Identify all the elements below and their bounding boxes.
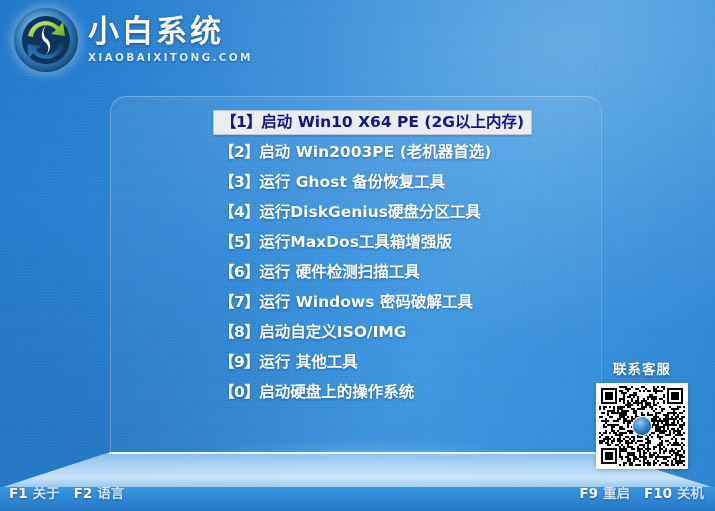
- brand-name-cn: 小白系统: [88, 16, 253, 49]
- boot-menu-item-index: 【4】: [219, 203, 259, 221]
- circular-recycle-arrows-icon: [14, 8, 78, 72]
- boot-menu-item-1[interactable]: 【1】启动 Win10 X64 PE (2G以上内存): [213, 110, 532, 135]
- boot-menu-item-index: 【7】: [219, 293, 259, 311]
- footer-key-f10-label: 关机: [677, 486, 704, 502]
- footer-key-f1-label: 关于: [33, 486, 60, 502]
- boot-menu-item-4[interactable]: 【4】运行DiskGenius硬盘分区工具: [213, 200, 487, 225]
- boot-menu-item-label: 运行 Ghost 备份恢复工具: [259, 173, 445, 191]
- boot-menu-item-6[interactable]: 【6】运行 硬件检测扫描工具: [213, 260, 426, 285]
- customer-service-block: 联系客服: [594, 358, 690, 469]
- boot-menu-item-9[interactable]: 【9】运行 其他工具: [213, 350, 364, 375]
- footer-key-f10[interactable]: F10: [644, 486, 672, 502]
- boot-menu-item-label: 运行 硬件检测扫描工具: [259, 263, 419, 281]
- boot-menu-item-10[interactable]: 【0】启动硬盘上的操作系统: [213, 380, 420, 405]
- boot-menu-item-index: 【6】: [219, 263, 259, 281]
- customer-service-label: 联系客服: [594, 358, 690, 378]
- boot-menu-item-label: 启动 Win2003PE (老机器首选): [259, 143, 491, 161]
- boot-menu-item-8[interactable]: 【8】启动自定义ISO/IMG: [213, 320, 412, 345]
- boot-menu-item-7[interactable]: 【7】运行 Windows 密码破解工具: [213, 290, 479, 315]
- boot-menu-item-index: 【5】: [219, 233, 259, 251]
- boot-menu-list: 【1】启动 Win10 X64 PE (2G以上内存)【2】启动 Win2003…: [213, 110, 513, 410]
- qr-code-icon[interactable]: [596, 383, 688, 469]
- boot-menu-item-3[interactable]: 【3】运行 Ghost 备份恢复工具: [213, 170, 451, 195]
- boot-menu-item-index: 【2】: [219, 143, 259, 161]
- qr-center-logo-icon: [632, 416, 652, 436]
- boot-menu-item-index: 【1】: [221, 113, 261, 131]
- brand-header: 小白系统 XIAOBAIXITONG.COM: [14, 8, 253, 72]
- footer-keys-right: F9重启F10关机: [579, 482, 704, 502]
- brand-text: 小白系统 XIAOBAIXITONG.COM: [88, 16, 253, 63]
- boot-menu-item-label: 运行 Windows 密码破解工具: [259, 293, 473, 311]
- footer-key-f1[interactable]: F1: [9, 486, 28, 502]
- boot-menu-item-label: 启动 Win10 X64 PE (2G以上内存): [261, 113, 524, 131]
- brand-name-en: XIAOBAIXITONG.COM: [88, 52, 253, 64]
- boot-menu-item-2[interactable]: 【2】启动 Win2003PE (老机器首选): [213, 140, 497, 165]
- footer-key-f2[interactable]: F2: [74, 486, 93, 502]
- boot-menu-item-label: 运行 其他工具: [259, 353, 357, 371]
- boot-menu-item-5[interactable]: 【5】运行MaxDos工具箱增强版: [213, 230, 458, 255]
- footer-key-f9[interactable]: F9: [579, 486, 598, 502]
- footer-key-f9-label: 重启: [603, 486, 630, 502]
- boot-menu-item-label: 启动硬盘上的操作系统: [259, 383, 414, 401]
- footer-keys-left: F1关于F2语言: [9, 482, 124, 502]
- boot-menu-item-index: 【8】: [219, 323, 259, 341]
- boot-menu-item-label: 运行MaxDos工具箱增强版: [259, 233, 452, 251]
- boot-menu-item-index: 【9】: [219, 353, 259, 371]
- boot-menu-item-index: 【3】: [219, 173, 259, 191]
- boot-menu-item-label: 启动自定义ISO/IMG: [259, 323, 406, 341]
- footer-key-f2-label: 语言: [97, 486, 124, 502]
- boot-menu-item-index: 【0】: [219, 383, 259, 401]
- boot-menu-item-label: 运行DiskGenius硬盘分区工具: [259, 203, 481, 221]
